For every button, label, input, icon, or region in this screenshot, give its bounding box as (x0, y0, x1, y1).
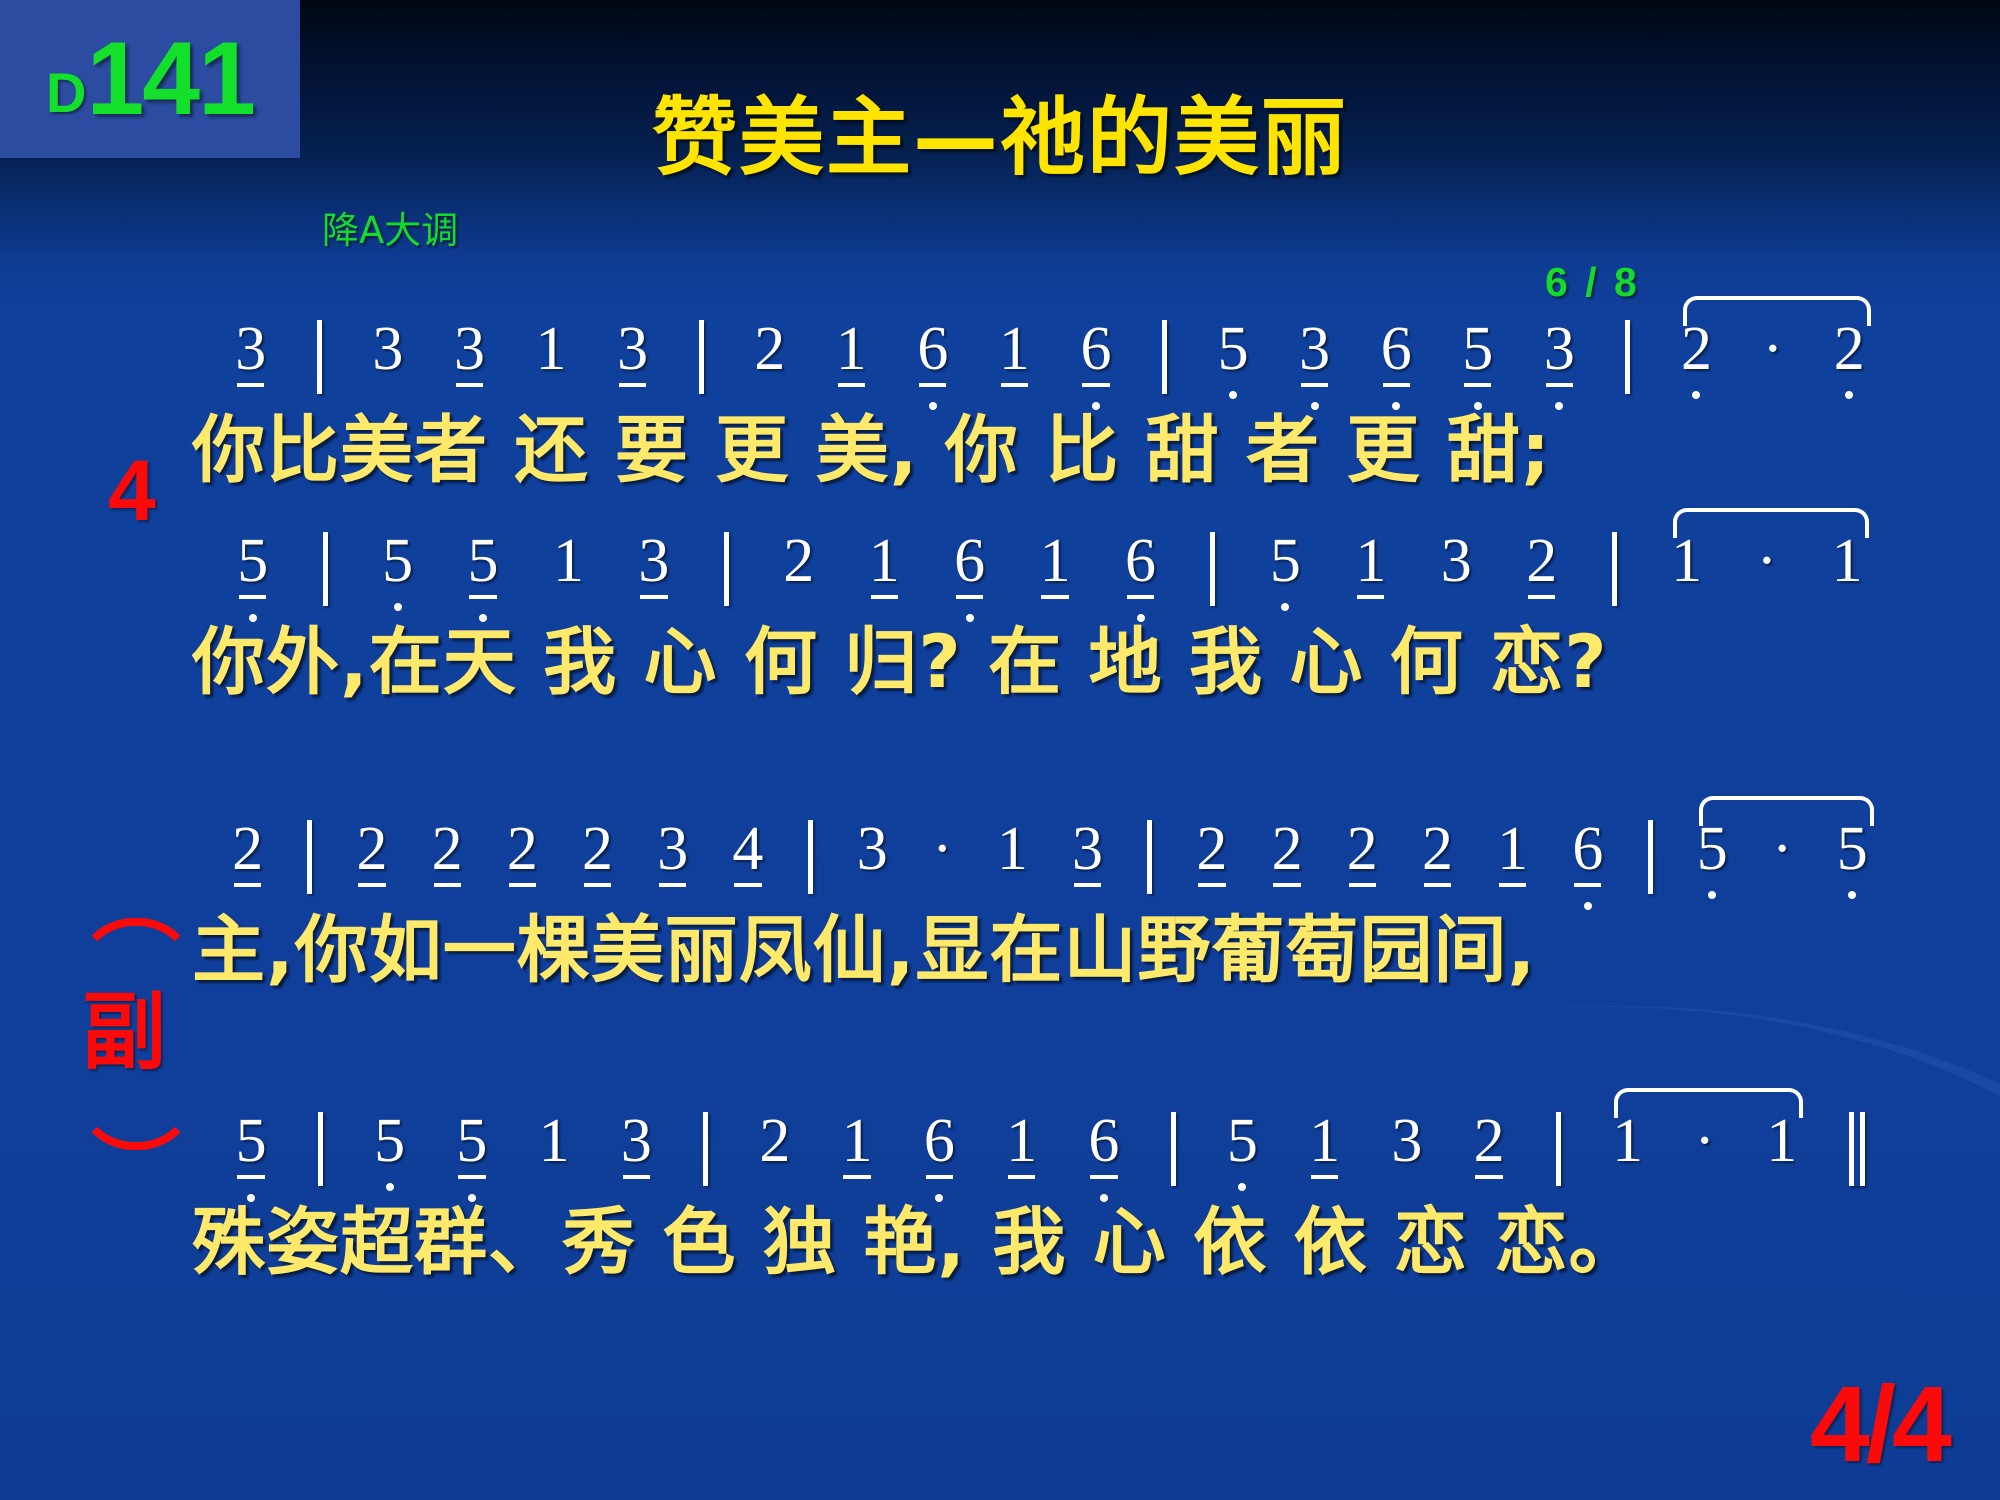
jianpu-note: 3 (1391, 1110, 1422, 1172)
octave-dot-low (386, 1183, 394, 1191)
barline (318, 1112, 323, 1186)
jianpu-note: 2 (1422, 818, 1453, 880)
jianpu-note: 1 (1006, 1110, 1037, 1172)
barline (1612, 532, 1617, 606)
final-barline (1849, 1112, 1865, 1186)
lyrics-line: 你比美者 还 要 更 美, 你 比 甜 者 更 甜; (192, 410, 1912, 492)
jianpu-note: 1 (553, 530, 584, 592)
lyrics-line: 主,你如一棵美丽凤仙,显在山野葡萄园间, (192, 910, 1912, 992)
lyrics-line: 你外,在天 我 心 何 归? 在 地 我 心 何 恋? (192, 622, 1912, 704)
tie-bracket (1614, 1088, 1803, 1118)
jianpu-note: 1 (1832, 530, 1863, 592)
barline (1556, 1112, 1561, 1186)
jianpu-note: 1 (1497, 818, 1528, 880)
jianpu-note: 6 (1088, 1110, 1119, 1172)
jianpu-note: 1 (997, 818, 1028, 880)
jianpu-note: 3 (657, 818, 688, 880)
notation-row: 555132161651321·1 (210, 530, 1890, 622)
augmentation-dot: · (1763, 318, 1784, 380)
jianpu-note: 5 (1837, 818, 1868, 880)
jianpu-note: 5 (236, 1110, 267, 1172)
augmentation-dot: · (1772, 818, 1793, 880)
jianpu-note: 3 (1072, 818, 1103, 880)
barline (323, 532, 328, 606)
jianpu-note: 1 (536, 318, 567, 380)
jianpu-note: 6 (1080, 318, 1111, 380)
jianpu-note: 1 (1612, 1110, 1643, 1172)
jianpu-note: 3 (1544, 318, 1575, 380)
jianpu-note: 2 (356, 818, 387, 880)
time-signature-bottom: 4/4 (1810, 1370, 1948, 1478)
jianpu-note: 1 (1671, 530, 1702, 592)
jianpu-note: 2 (1347, 818, 1378, 880)
jianpu-note: 2 (1196, 818, 1227, 880)
augmentation-dot: · (932, 818, 953, 880)
jianpu-note: 6 (1125, 530, 1156, 592)
jianpu-note: 4 (732, 818, 763, 880)
page-title: 赞美主—祂的美丽 (330, 96, 1670, 181)
barline (699, 320, 704, 394)
jianpu-note: 3 (638, 530, 669, 592)
jianpu-note: 2 (1526, 530, 1557, 592)
jianpu-note: 2 (1681, 318, 1712, 380)
jianpu-note: 1 (842, 1110, 873, 1172)
tie-bracket (1673, 508, 1869, 538)
jianpu-note: 1 (1766, 1110, 1797, 1172)
hymn-number: 141 (86, 27, 254, 131)
octave-dot-low (1848, 891, 1856, 899)
notation-row: 22222343·132222165·5 (210, 818, 1890, 910)
octave-dot-low (1692, 391, 1700, 399)
jianpu-note: 3 (454, 318, 485, 380)
jianpu-note: 3 (1299, 318, 1330, 380)
jianpu-note: 1 (1355, 530, 1386, 592)
jianpu-note: 5 (1227, 1110, 1258, 1172)
barline (307, 820, 312, 894)
jianpu-note: 2 (232, 818, 263, 880)
key-signature-label: 降A大调 (322, 212, 458, 249)
notation-row: 3331321616536532·2 (210, 318, 1890, 410)
jianpu-note: 5 (1697, 818, 1728, 880)
jianpu-note: 3 (1441, 530, 1472, 592)
jianpu-note: 2 (754, 318, 785, 380)
jianpu-note: 2 (507, 818, 538, 880)
hymn-number-badge: D 141 (0, 0, 300, 158)
jianpu-note: 3 (372, 318, 403, 380)
barline (724, 532, 729, 606)
jianpu-note: 5 (456, 1110, 487, 1172)
jianpu-note: 3 (621, 1110, 652, 1172)
jianpu-note: 6 (954, 530, 985, 592)
jianpu-note: 5 (1270, 530, 1301, 592)
hymn-series-letter: D (46, 65, 86, 121)
augmentation-dot: · (1694, 1110, 1715, 1172)
jianpu-note: 1 (1309, 1110, 1340, 1172)
octave-dot-low (1845, 391, 1853, 399)
barline (808, 820, 813, 894)
jianpu-note: 2 (582, 818, 613, 880)
music-system-2: 555132161651321·1 你外,在天 我 心 何 归? 在 地 我 心… (0, 530, 2000, 760)
octave-dot-low (1229, 391, 1237, 399)
jianpu-note: 2 (432, 818, 463, 880)
jianpu-note: 6 (924, 1110, 955, 1172)
barline (1162, 320, 1167, 394)
tie-bracket (1683, 296, 1871, 326)
jianpu-note: 1 (539, 1110, 570, 1172)
barline (703, 1112, 708, 1186)
jianpu-note: 5 (1462, 318, 1493, 380)
octave-dot-low (1281, 603, 1289, 611)
octave-dot-low (1555, 402, 1563, 410)
jianpu-note: 2 (759, 1110, 790, 1172)
jianpu-note: 3 (857, 818, 888, 880)
jianpu-note: 1 (1040, 530, 1071, 592)
jianpu-note: 5 (382, 530, 413, 592)
barline (317, 320, 322, 394)
slide-canvas: D 141 赞美主—祂的美丽 降A大调 6 / 8 4/4 4 副 333132… (0, 0, 2000, 1500)
barline (1171, 1112, 1176, 1186)
augmentation-dot: · (1757, 530, 1778, 592)
barline (1147, 820, 1152, 894)
jianpu-note: 2 (1272, 818, 1303, 880)
barline (1625, 320, 1630, 394)
jianpu-note: 6 (1381, 318, 1412, 380)
lyrics-line: 殊姿超群、秀 色 独 艳, 我 心 依 依 恋 恋。 (192, 1202, 1912, 1284)
jianpu-note: 6 (917, 318, 948, 380)
barline (1210, 532, 1215, 606)
barline (1648, 820, 1653, 894)
jianpu-note: 5 (468, 530, 499, 592)
octave-dot-low (1708, 891, 1716, 899)
notation-row: 555132161651321·1 (210, 1110, 1890, 1202)
octave-dot-low (1584, 902, 1592, 910)
octave-dot-low (1238, 1183, 1246, 1191)
jianpu-note: 5 (237, 530, 268, 592)
jianpu-note: 2 (1474, 1110, 1505, 1172)
jianpu-note: 6 (1572, 818, 1603, 880)
octave-dot-low (394, 603, 402, 611)
jianpu-note: 1 (869, 530, 900, 592)
jianpu-note: 5 (1218, 318, 1249, 380)
jianpu-note: 1 (836, 318, 867, 380)
jianpu-note: 3 (235, 318, 266, 380)
jianpu-note: 3 (617, 318, 648, 380)
tie-bracket (1699, 796, 1874, 826)
music-system-4: 555132161651321·1 殊姿超群、秀 色 独 艳, 我 心 依 依 … (0, 1110, 2000, 1340)
music-system-3: 22222343·132222165·5 主,你如一棵美丽凤仙,显在山野葡萄园间… (0, 818, 2000, 1048)
jianpu-note: 2 (1834, 318, 1865, 380)
jianpu-note: 5 (374, 1110, 405, 1172)
time-signature-top: 6 / 8 (1545, 262, 1640, 303)
jianpu-note: 1 (999, 318, 1030, 380)
jianpu-note: 2 (783, 530, 814, 592)
